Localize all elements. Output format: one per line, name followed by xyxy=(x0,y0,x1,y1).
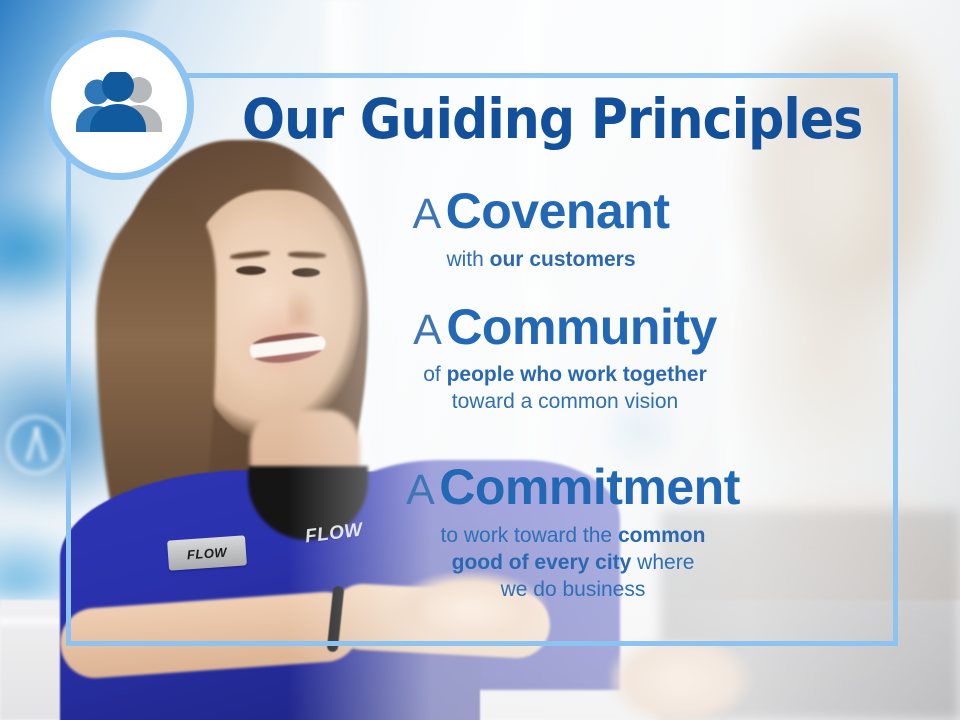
principle-covenant-keyword: Covenant xyxy=(446,183,670,239)
customer-hand xyxy=(610,640,760,720)
commitment-detail-bold2: good of every city xyxy=(452,551,632,574)
guiding-principles-graphic: FLOW FLOW Our Guiding Principles A Co xyxy=(0,0,960,720)
community-detail-line2: toward a common vision xyxy=(452,390,678,413)
principle-covenant: A Covenant with our customers xyxy=(216,186,866,274)
principle-community-keyword: Community xyxy=(446,299,717,355)
name-badge-logo-text: FLOW xyxy=(186,545,227,561)
community-detail-bold: people who work together xyxy=(447,363,707,386)
principle-covenant-detail: with our customers xyxy=(216,247,866,274)
principle-community-detail: of people who work together toward a com… xyxy=(240,362,890,416)
principle-community-article: A xyxy=(413,306,442,354)
principle-commitment: A Commitment to work toward the common g… xyxy=(248,462,898,604)
people-group-icon xyxy=(44,30,194,180)
employee-name-badge: FLOW xyxy=(167,535,247,570)
principle-commitment-article: A xyxy=(406,466,435,514)
commitment-detail-plain3: we do business xyxy=(501,578,646,601)
commitment-detail-plain1: to work toward the xyxy=(441,524,618,547)
principle-commitment-heading: A Commitment xyxy=(248,462,898,513)
covenant-detail-plain: with xyxy=(446,248,489,271)
commitment-detail-plain2: where xyxy=(631,551,694,574)
principle-community: A Community of people who work together … xyxy=(240,302,890,416)
principle-community-heading: A Community xyxy=(240,302,890,353)
principle-commitment-keyword: Commitment xyxy=(439,459,740,515)
principle-covenant-heading: A Covenant xyxy=(216,186,866,237)
page-title: Our Guiding Principles xyxy=(242,92,840,147)
principle-covenant-article: A xyxy=(413,190,442,238)
covenant-detail-bold: our customers xyxy=(490,248,636,271)
commitment-detail-bold1: common xyxy=(618,524,706,547)
community-detail-plain: of xyxy=(423,363,446,386)
principle-commitment-detail: to work toward the common good of every … xyxy=(248,523,898,604)
